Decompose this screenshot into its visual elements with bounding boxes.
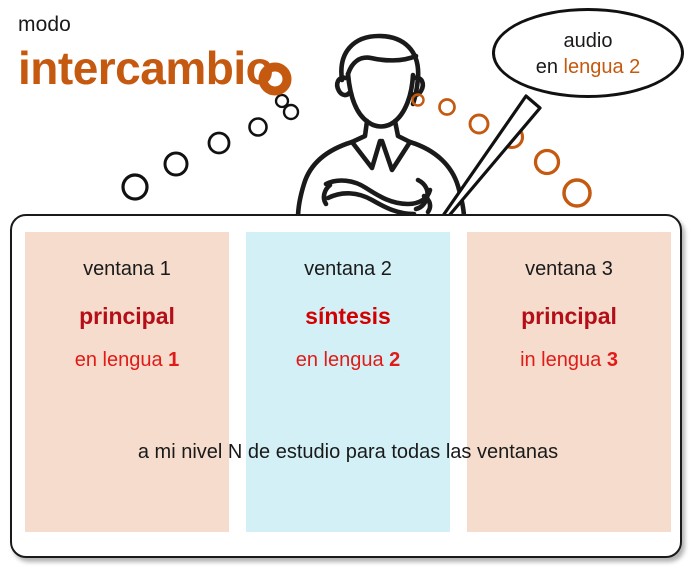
speech-bubble-line-2-accent: lengua 2 xyxy=(564,56,641,78)
diagram-canvas: modo intercambio xyxy=(0,0,695,571)
window-1-title: ventana 1 xyxy=(25,259,229,279)
window-3-language-prefix: in lengua xyxy=(520,349,607,371)
window-2-language: en lengua 2 xyxy=(246,350,450,370)
window-column-2[interactable]: ventana 2 síntesis en lengua 2 xyxy=(246,232,450,532)
window-3-role: principal xyxy=(467,305,671,328)
window-1-role: principal xyxy=(25,305,229,328)
window-column-1[interactable]: ventana 1 principal en lengua 1 xyxy=(25,232,229,532)
window-2-title: ventana 2 xyxy=(246,259,450,279)
window-2-language-prefix: en lengua xyxy=(296,349,389,371)
speech-bubble-text: audio en lengua 2 xyxy=(492,28,684,81)
window-2-role: síntesis xyxy=(246,305,450,328)
windows-panel: ventana 1 principal en lengua 1 ventana … xyxy=(10,214,682,558)
window-3-language: in lengua 3 xyxy=(467,350,671,370)
speech-bubble-line-2-prefix: en xyxy=(536,56,564,78)
window-2-language-number: 2 xyxy=(389,349,400,371)
speech-bubble: audio en lengua 2 xyxy=(492,8,688,104)
speech-bubble-line-1: audio xyxy=(492,28,684,54)
speech-bubble-line-2: en lengua 2 xyxy=(492,54,684,80)
window-column-3[interactable]: ventana 3 principal in lengua 3 xyxy=(467,232,671,532)
window-1-language-prefix: en lengua xyxy=(75,349,168,371)
window-1-language: en lengua 1 xyxy=(25,350,229,370)
window-1-language-number: 1 xyxy=(168,349,179,371)
window-3-title: ventana 3 xyxy=(467,259,671,279)
window-3-language-number: 3 xyxy=(607,349,618,371)
windows-columns: ventana 1 principal en lengua 1 ventana … xyxy=(25,232,671,532)
